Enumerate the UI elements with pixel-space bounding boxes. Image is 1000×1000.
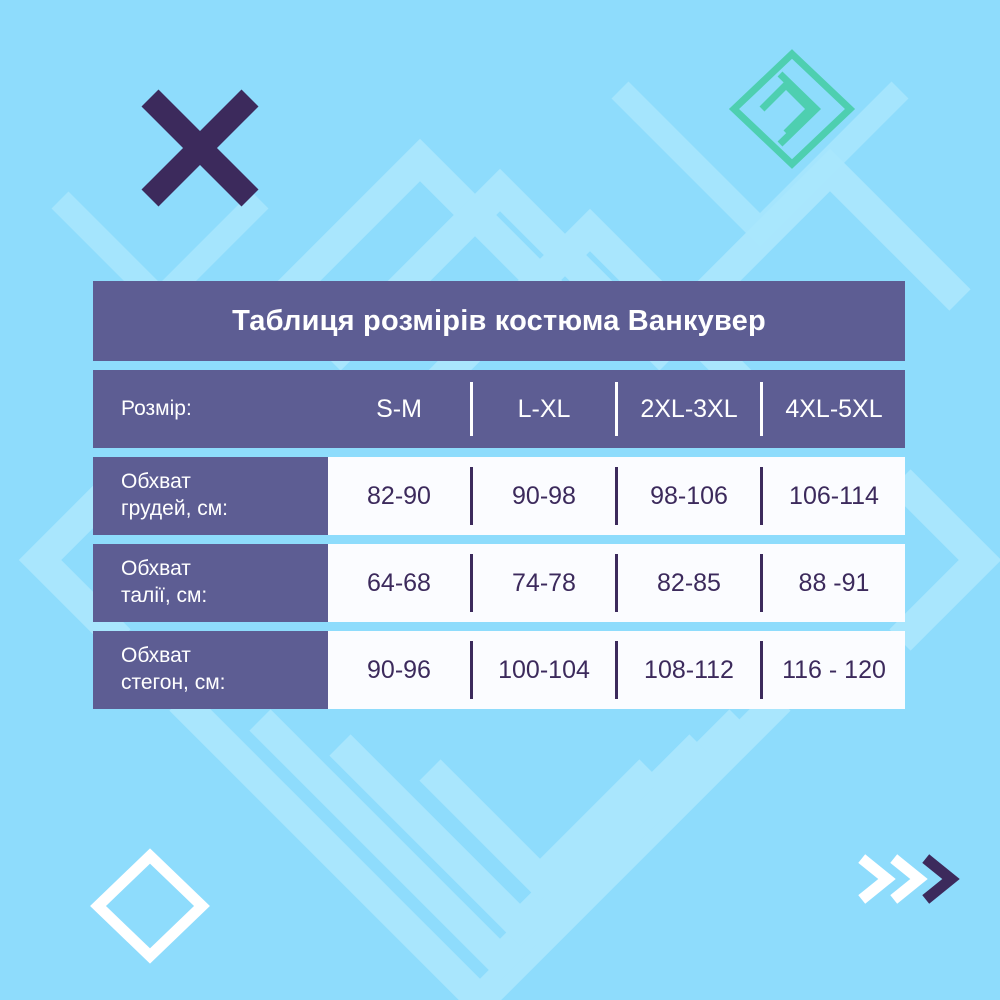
size-chart-table: Таблиця розмірів костюма Ванкувер Розмір… [93, 281, 905, 709]
header-label-text: Розмір: [121, 396, 328, 423]
table-row: Обхват грудей, см: 82-90 90-98 98-106 10… [93, 457, 905, 535]
header-label-cell: Розмір: [93, 370, 328, 448]
cell-value: 98-106 [615, 467, 760, 525]
row-label-line-2: талії, см: [121, 583, 328, 610]
cell-value: 82-90 [328, 467, 470, 525]
table-header-row: Розмір: S-M L-XL 2XL-3XL 4XL-5XL [93, 370, 905, 448]
row-value-strip: 82-90 90-98 98-106 106-114 [328, 457, 905, 535]
header-size-3: 2XL-3XL [615, 382, 760, 436]
cell-value: 88 -91 [760, 554, 905, 612]
cell-value: 106-114 [760, 467, 905, 525]
table-title: Таблиця розмірів костюма Ванкувер [93, 281, 905, 361]
row-label-cell: Обхват стегон, см: [93, 631, 328, 709]
cell-value: 74-78 [470, 554, 615, 612]
header-size-1: S-M [328, 382, 470, 436]
cell-value: 90-96 [328, 641, 470, 699]
cell-value: 82-85 [615, 554, 760, 612]
row-label-line-2: стегон, см: [121, 670, 328, 697]
cell-value: 116 - 120 [760, 641, 905, 699]
table-row: Обхват стегон, см: 90-96 100-104 108-112… [93, 631, 905, 709]
header-size-4: 4XL-5XL [760, 382, 905, 436]
table-row: Обхват талії, см: 64-68 74-78 82-85 88 -… [93, 544, 905, 622]
row-divider [93, 361, 905, 370]
row-value-strip: 64-68 74-78 82-85 88 -91 [328, 544, 905, 622]
row-label-line-1: Обхват [121, 643, 328, 670]
row-divider [93, 535, 905, 544]
x-mark-icon [140, 88, 260, 208]
diamond-chevron-emblem-icon [724, 44, 860, 174]
header-size-2: L-XL [470, 382, 615, 436]
row-label-line-1: Обхват [121, 556, 328, 583]
row-label-line-1: Обхват [121, 469, 328, 496]
row-divider [93, 448, 905, 457]
cell-value: 64-68 [328, 554, 470, 612]
row-label-line-2: грудей, см: [121, 496, 328, 523]
cell-value: 100-104 [470, 641, 615, 699]
row-label-cell: Обхват талії, см: [93, 544, 328, 622]
cell-value: 108-112 [615, 641, 760, 699]
chevron-arrows-icon [858, 848, 962, 910]
row-divider [93, 622, 905, 631]
row-label-cell: Обхват грудей, см: [93, 457, 328, 535]
header-value-strip: S-M L-XL 2XL-3XL 4XL-5XL [328, 370, 905, 448]
diamond-outline-icon [90, 848, 210, 964]
row-value-strip: 90-96 100-104 108-112 116 - 120 [328, 631, 905, 709]
cell-value: 90-98 [470, 467, 615, 525]
